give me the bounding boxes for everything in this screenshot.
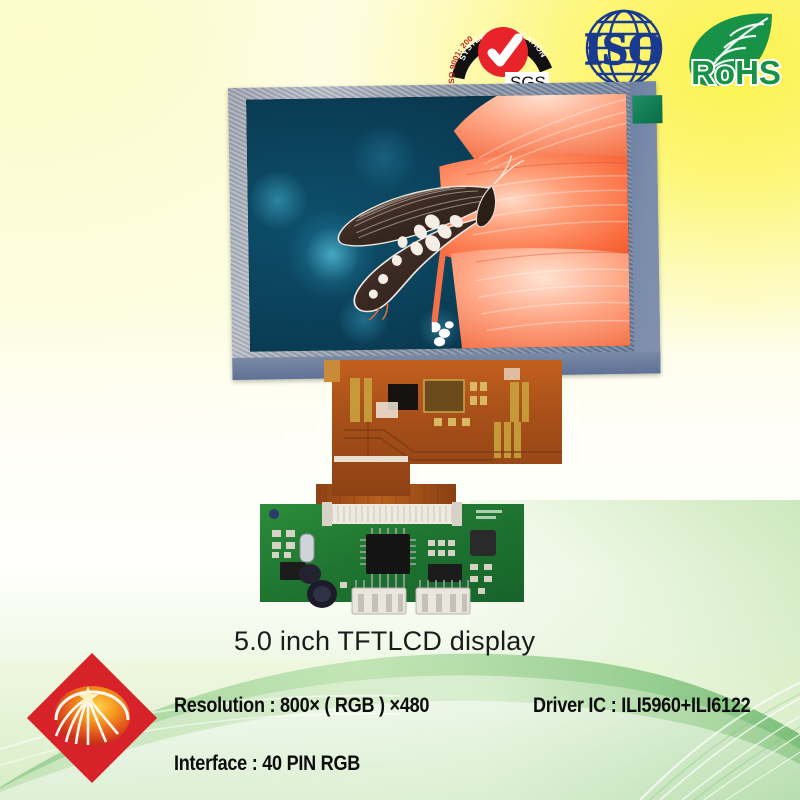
lcd-screen-image	[246, 94, 630, 352]
iso-wordmark: ISO	[584, 23, 663, 74]
lcd-bezel-right-edge	[630, 81, 661, 373]
driver-board-pcb	[256, 490, 528, 616]
spec-driver-ic: Driver IC : ILI5960+ILI6122	[533, 694, 750, 718]
lcd-module-assembly	[228, 88, 668, 628]
flexible-printed-circuit	[314, 360, 562, 496]
sgs-certification-logo: SYSTEM CERTIFICATION ISO 9001: 2000 SGS	[448, 4, 566, 94]
product-image-canvas: SYSTEM CERTIFICATION ISO 9001: 2000 SGS …	[0, 0, 800, 800]
spec-resolution: Resolution : 800× ( RGB ) ×480	[174, 694, 429, 718]
green-tape-tab	[632, 95, 662, 123]
tft-lcd-panel	[228, 81, 661, 380]
iso-globe-logo: ISO	[570, 4, 678, 92]
butterfly-graphic	[315, 151, 538, 321]
rohs-leaf-logo: RoHS	[676, 4, 796, 96]
spec-interface: Interface : 40 PIN RGB	[174, 752, 360, 776]
rohs-wordmark: RoHS	[691, 54, 781, 91]
company-diamond-logo	[22, 648, 162, 788]
page-title: 5.0 inch TFTLCD display	[234, 626, 535, 657]
